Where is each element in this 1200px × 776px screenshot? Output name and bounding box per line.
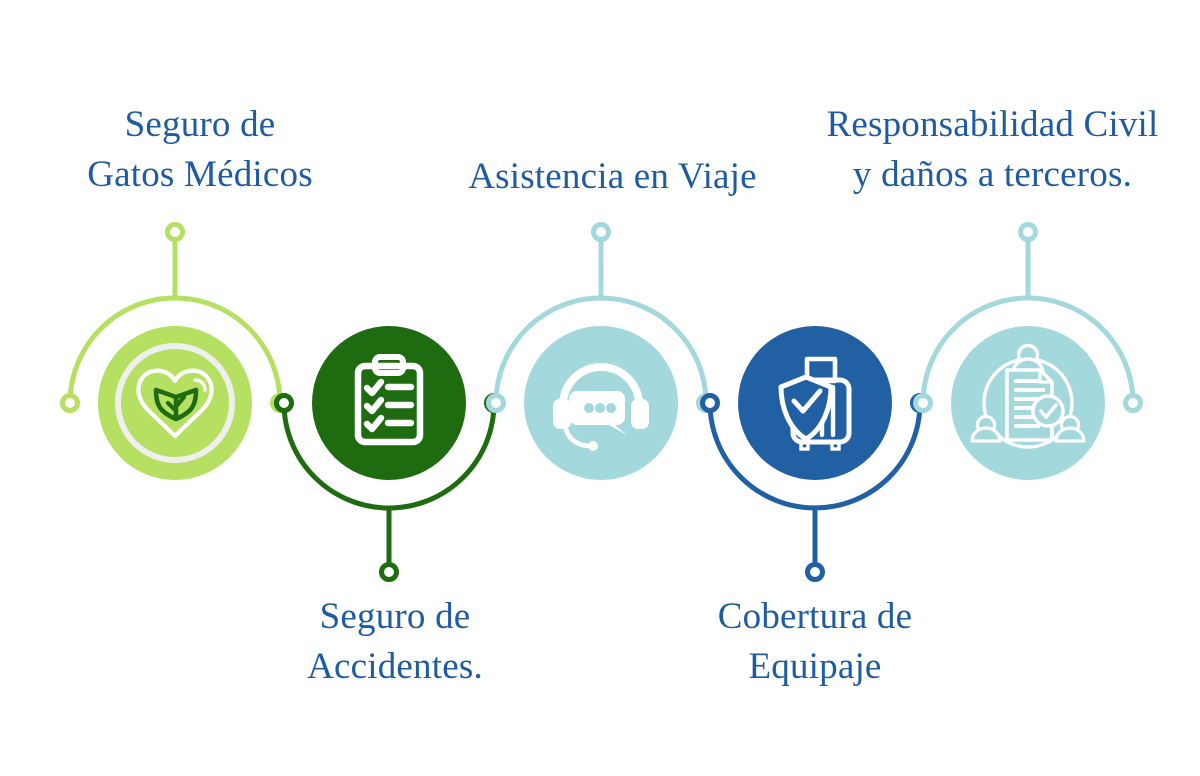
node-2-label: Asistencia en Viaje [425, 152, 800, 202]
node-2-asistencia-en-viaje[interactable] [524, 326, 678, 480]
diagram-canvas: Seguro de Gatos Médicos Seguro de Accide… [0, 0, 1200, 776]
node-0-label: Seguro de Gatos Médicos [20, 100, 380, 200]
node-3-label: Cobertura de Equipaje [655, 592, 975, 692]
node-0-seguro-gatos-medicos[interactable] [98, 326, 252, 480]
node-1-label: Seguro de Accidentes. [235, 592, 555, 692]
node-3-cobertura-equipaje[interactable] [738, 326, 892, 480]
node-4-responsabilidad-civil[interactable] [951, 326, 1105, 480]
node-1-seguro-accidentes[interactable] [312, 326, 466, 480]
node-4-label: Responsabilidad Civil y daños a terceros… [785, 100, 1200, 200]
